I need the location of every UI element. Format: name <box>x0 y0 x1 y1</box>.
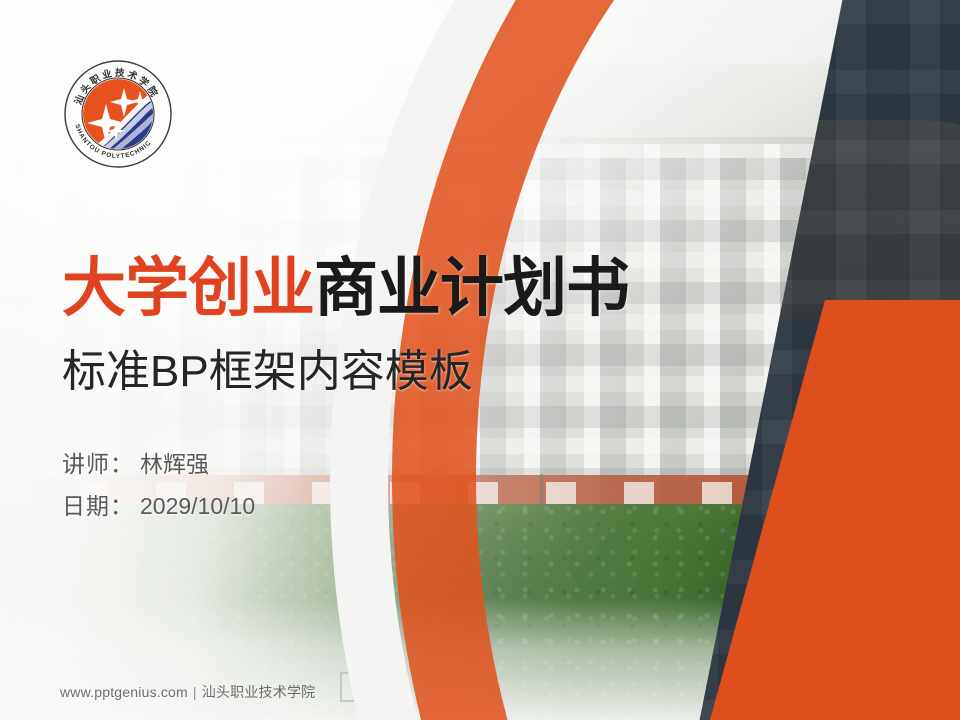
footer: www.pptgenius.com|汕头职业技术学院 <box>60 682 315 702</box>
logo-svg: 汕头职业技术学院 SHANTOU POLYTECHNIC <box>62 58 174 170</box>
page-title-plain: 商业计划书 <box>314 252 629 324</box>
date-value: 2029/10/10 <box>140 493 255 519</box>
date-label: 日期： <box>62 493 134 519</box>
presenter-value: 林辉强 <box>140 451 209 477</box>
date-row: 日期：2029/10/10 <box>62 485 255 527</box>
presentation-title-slide: 汕头职业技术学院 SHANTOU POLYTECHNIC 大学创业商业计划书 标… <box>0 0 960 720</box>
footer-website[interactable]: www.pptgenius.com <box>60 684 188 700</box>
presenter-row: 讲师：林辉强 <box>62 443 255 485</box>
shantou-polytechnic-logo: 汕头职业技术学院 SHANTOU POLYTECHNIC <box>62 58 174 170</box>
presenter-label: 讲师： <box>62 451 134 477</box>
page-subtitle: 标准BP框架内容模板 <box>62 350 473 394</box>
footer-separator: | <box>193 684 197 700</box>
presentation-meta: 讲师：林辉强 日期：2029/10/10 <box>62 443 255 527</box>
page-title-accent: 大学创业 <box>62 252 314 324</box>
footer-organization: 汕头职业技术学院 <box>202 684 316 700</box>
page-title: 大学创业商业计划书 <box>62 256 629 320</box>
